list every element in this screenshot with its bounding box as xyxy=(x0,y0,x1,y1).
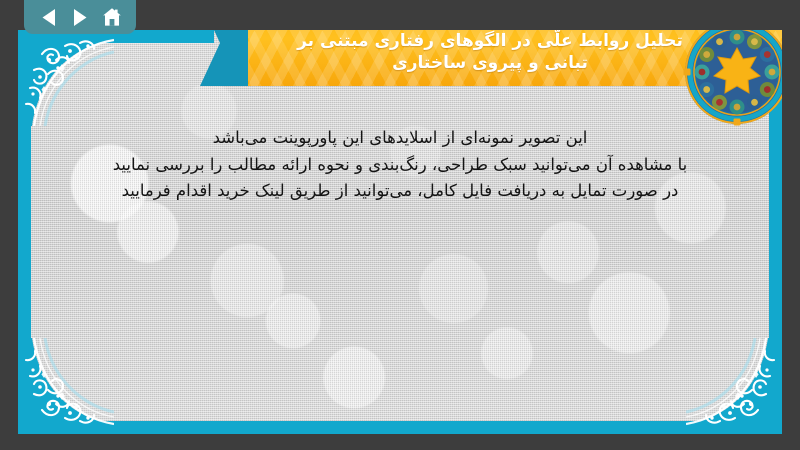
slide-body-text: این تصویر نمونه‌ای از اسلایدهای این پاور… xyxy=(52,125,748,205)
previous-slide-button[interactable] xyxy=(35,4,61,30)
slide-background xyxy=(18,30,782,434)
slide-title-line-1: تحلیل روابط علّی در الگوهای رفتاری مبتنی… xyxy=(260,30,720,52)
navigation-toolbar xyxy=(24,0,136,34)
body-line-3: در صورت تمایل به دریافت فایل کامل، می‌تو… xyxy=(52,178,748,205)
slide-canvas: تحلیل روابط علّی در الگوهای رفتاری مبتنی… xyxy=(18,30,782,434)
body-line-2: با مشاهده آن می‌توانید سبک طراحی، رنگ‌بن… xyxy=(52,152,748,179)
slide-title: تحلیل روابط علّی در الگوهای رفتاری مبتنی… xyxy=(260,30,720,75)
home-icon xyxy=(101,7,123,28)
triangle-right-icon xyxy=(72,8,89,27)
ribbon-tail xyxy=(200,30,250,86)
triangle-left-icon xyxy=(40,8,57,27)
persian-medallion-ornament xyxy=(683,30,782,126)
slide-title-line-2: تبانی و پیروی ساختاری xyxy=(260,52,720,74)
arabesque-corner-ornament-bottom-left xyxy=(18,338,114,434)
next-slide-button[interactable] xyxy=(67,4,93,30)
body-line-1: این تصویر نمونه‌ای از اسلایدهای این پاور… xyxy=(52,125,748,152)
home-button[interactable] xyxy=(99,4,125,30)
slide-viewer: تحلیل روابط علّی در الگوهای رفتاری مبتنی… xyxy=(0,0,800,450)
arabesque-corner-ornament-bottom-right xyxy=(686,338,782,434)
arabesque-corner-ornament-top-left xyxy=(18,30,114,126)
border-bottom xyxy=(18,421,782,434)
